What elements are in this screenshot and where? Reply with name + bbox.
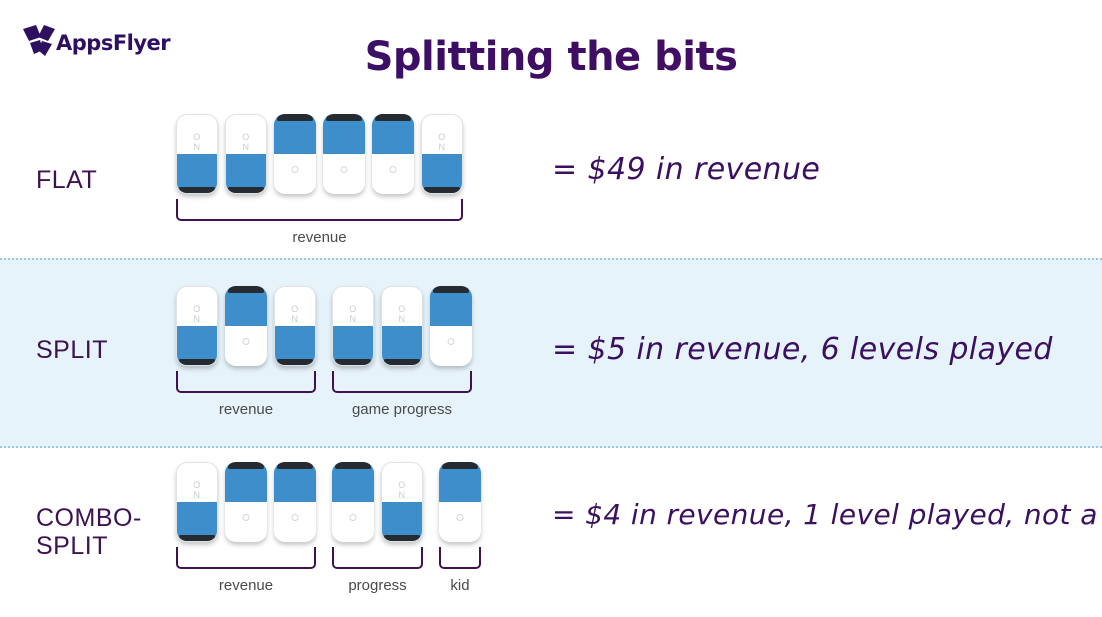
toggle-switch[interactable] [439, 462, 481, 542]
toggle-knob [350, 514, 357, 521]
toggle-switch[interactable] [332, 462, 374, 542]
group-bracket [332, 547, 423, 569]
toggle-groups-split: ON ON revenue [176, 286, 472, 418]
toggle-group-revenue: ON ON revenue [176, 286, 316, 418]
toggle-bezel [228, 286, 264, 293]
toggle-switch[interactable]: ON [176, 114, 218, 194]
toggle-knob [292, 514, 299, 521]
toggle-switch[interactable] [225, 286, 267, 366]
group-caption: kid [450, 577, 469, 594]
result-text-split: = $5 in revenue, 6 levels played [552, 332, 1053, 367]
toggle-switch[interactable] [225, 462, 267, 542]
group-caption: revenue [292, 229, 346, 246]
toggle-groups-combo-split: ON revenue [176, 462, 481, 594]
toggle-switch[interactable]: ON [225, 114, 267, 194]
toggle-base [384, 359, 420, 365]
toggle-on-label: ON [382, 480, 422, 500]
toggle-knob [243, 514, 250, 521]
toggle-switch[interactable] [274, 114, 316, 194]
toggle-switch[interactable] [372, 114, 414, 194]
toggle-bezel [335, 462, 371, 469]
toggle-base [179, 359, 215, 365]
toggle-base [335, 359, 371, 365]
row-split: SPLIT ON ON r [0, 258, 1102, 448]
toggle-knob [457, 514, 464, 521]
toggle-on-label: ON [333, 304, 373, 324]
toggle-groups-flat: ON ON [176, 114, 463, 246]
toggle-knob [448, 338, 455, 345]
toggle-switch[interactable] [323, 114, 365, 194]
toggle-bezel [375, 114, 411, 121]
toggle-group-progress: ON progress [332, 462, 423, 594]
toggle-on-label: ON [226, 132, 266, 152]
toggle-switch[interactable]: ON [421, 114, 463, 194]
group-caption: game progress [352, 401, 452, 418]
toggle-knob [390, 166, 397, 173]
row-label-split: SPLIT [36, 336, 186, 364]
toggle-base [277, 359, 313, 365]
group-bracket [176, 199, 463, 221]
toggle-on-label: ON [382, 304, 422, 324]
toggle-base [179, 187, 215, 193]
toggle-list: ON ON [176, 286, 316, 366]
group-caption: progress [348, 577, 406, 594]
toggle-on-label: ON [177, 304, 217, 324]
toggle-list: ON [176, 462, 316, 542]
result-text-combo-split: = $4 in revenue, 1 level played, not a k… [552, 498, 1102, 531]
toggle-bezel [277, 114, 313, 121]
toggle-bezel [433, 286, 469, 293]
toggle-group-revenue: ON revenue [176, 462, 316, 594]
toggle-bezel [228, 462, 264, 469]
group-bracket [332, 371, 472, 393]
toggle-knob [292, 166, 299, 173]
toggle-switch[interactable] [430, 286, 472, 366]
group-bracket [176, 371, 316, 393]
page-title: Splitting the bits [0, 34, 1102, 80]
toggle-list: ON ON [176, 114, 463, 194]
toggle-group-kid: kid [439, 462, 481, 594]
row-label-combo-split: COMBO-SPLIT [36, 504, 186, 560]
toggle-switch[interactable]: ON [332, 286, 374, 366]
toggle-knob [341, 166, 348, 173]
toggle-base [384, 535, 420, 541]
toggle-on-label: ON [275, 304, 315, 324]
toggle-base [228, 187, 264, 193]
toggle-switch[interactable]: ON [381, 462, 423, 542]
toggle-knob [243, 338, 250, 345]
toggle-switch[interactable]: ON [176, 286, 218, 366]
row-combo-split: COMBO-SPLIT ON [0, 446, 1102, 617]
group-caption: revenue [219, 577, 273, 594]
group-bracket [176, 547, 316, 569]
toggle-on-label: ON [422, 132, 462, 152]
toggle-group-revenue: ON ON [176, 114, 463, 246]
toggle-bezel [442, 462, 478, 469]
row-label-flat: FLAT [36, 166, 186, 194]
toggle-bezel [326, 114, 362, 121]
toggle-on-label: ON [177, 132, 217, 152]
group-caption: revenue [219, 401, 273, 418]
toggle-list: ON [332, 462, 423, 542]
toggle-list [439, 462, 481, 542]
toggle-on-label: ON [177, 480, 217, 500]
toggle-switch[interactable]: ON [274, 286, 316, 366]
toggle-base [424, 187, 460, 193]
toggle-switch[interactable]: ON [381, 286, 423, 366]
toggle-base [179, 535, 215, 541]
group-bracket [439, 547, 481, 569]
toggle-switch[interactable]: ON [176, 462, 218, 542]
toggle-bezel [277, 462, 313, 469]
toggle-group-game-progress: ON ON game progress [332, 286, 472, 418]
result-text-flat: = $49 in revenue [552, 152, 820, 187]
toggle-switch[interactable] [274, 462, 316, 542]
toggle-list: ON ON [332, 286, 472, 366]
row-flat: FLAT ON ON [0, 98, 1102, 258]
